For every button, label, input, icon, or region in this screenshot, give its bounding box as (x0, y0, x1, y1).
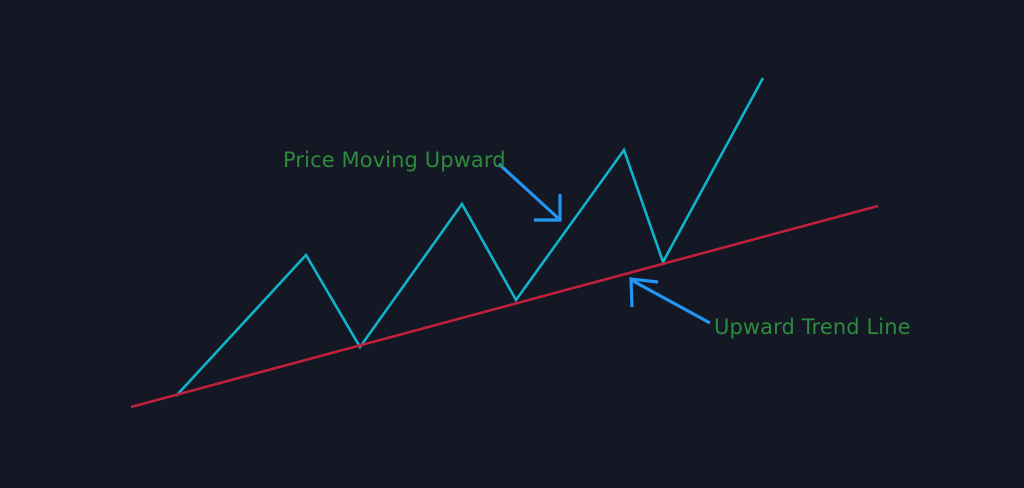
chart-pattern-diagram: Price Moving Upward Upward Trend Line (0, 0, 1024, 488)
trend-line-chart-svg: Price Moving Upward Upward Trend Line (0, 0, 1024, 488)
price-moving-upward-label: Price Moving Upward (283, 148, 506, 172)
upward-trend-line-label: Upward Trend Line (714, 315, 911, 339)
chart-background (0, 0, 1024, 488)
